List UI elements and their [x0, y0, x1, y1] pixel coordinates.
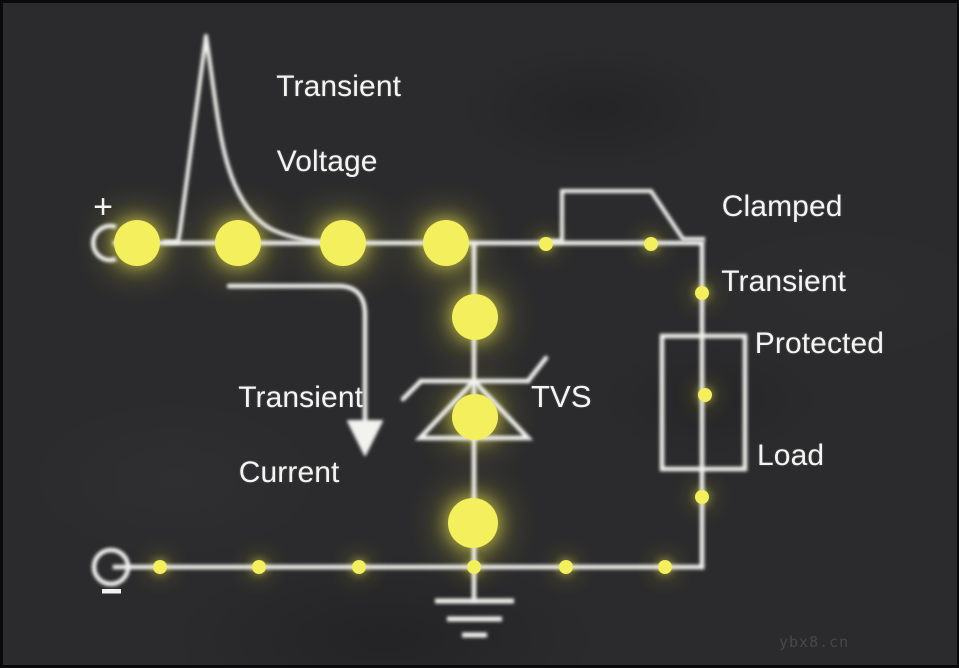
- flow-dot-small: [695, 490, 709, 504]
- transient-voltage-label: Transient Voltage: [243, 31, 401, 217]
- flow-dot-large: [114, 220, 160, 266]
- flow-dot-large: [320, 220, 366, 266]
- clamped-transient-waveform: [543, 191, 703, 241]
- flow-dot-small: [539, 237, 553, 251]
- minus-sign-label: [102, 589, 121, 594]
- flow-dot-large: [215, 220, 261, 266]
- negative-terminal: [94, 550, 128, 594]
- flow-dot-small: [252, 560, 266, 574]
- flow-dot-small: [559, 560, 573, 574]
- transient-voltage-line2: Voltage: [277, 145, 378, 178]
- flow-dot-large: [452, 294, 498, 340]
- flow-dot-small: [467, 560, 481, 574]
- flow-dot-large: [423, 220, 469, 266]
- flow-dot-small: [698, 388, 712, 402]
- conductor-layer: [115, 243, 702, 599]
- flow-dot-small: [658, 560, 672, 574]
- protected-load-label: Protected Load: [721, 288, 884, 548]
- transient-voltage-line1: Transient: [276, 70, 401, 103]
- circuit-diagram-canvas: +: [0, 0, 959, 668]
- flow-dot-large: [448, 498, 498, 548]
- protected-load-line2: Load: [721, 437, 884, 474]
- transient-current-label: Transient Current: [205, 342, 363, 528]
- flow-dot-small: [352, 560, 366, 574]
- protected-load-line1: Protected: [755, 327, 884, 360]
- ground-symbol: [435, 601, 514, 635]
- transient-current-line2: Current: [239, 456, 340, 489]
- current-flow-dots: [114, 220, 712, 574]
- clamped-transient-line1: Clamped: [722, 190, 843, 223]
- flow-dot-large: [452, 394, 498, 440]
- flow-dot-small: [644, 237, 658, 251]
- plus-sign-label: +: [93, 188, 113, 226]
- site-watermark: ybx8.cn: [779, 633, 849, 651]
- tvs-label: TVS: [531, 378, 592, 416]
- transient-current-line1: Transient: [238, 381, 363, 414]
- positive-terminal: +: [93, 188, 116, 260]
- flow-dot-small: [153, 560, 167, 574]
